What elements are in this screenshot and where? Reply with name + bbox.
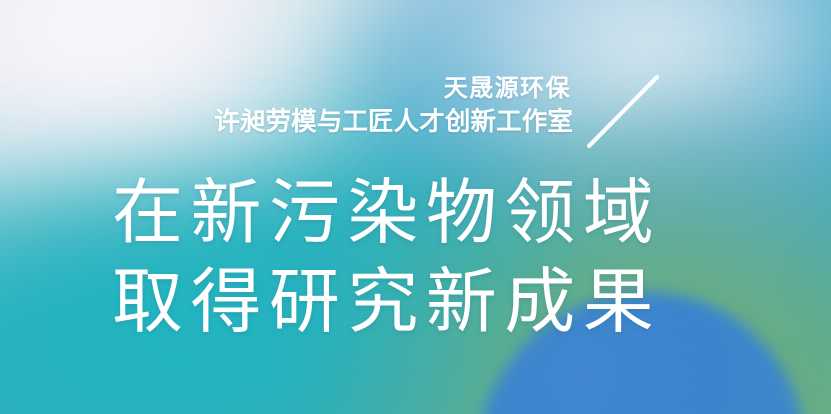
eyebrow-text-block: 天晟源环保 许昶劳模与工匠人才创新工作室 [0, 74, 573, 138]
studio-name: 许昶劳模与工匠人才创新工作室 [0, 107, 573, 138]
headline-line-2: 取得研究新成果 [112, 267, 661, 338]
headline-line-1: 在新污染物领域 [112, 178, 661, 249]
headline-block: 在新污染物领域 取得研究新成果 [112, 178, 661, 338]
banner-content: 天晟源环保 许昶劳模与工匠人才创新工作室 在新污染物领域 取得研究新成果 [0, 0, 831, 414]
diagonal-slash-icon [586, 72, 662, 150]
promo-banner: 天晟源环保 许昶劳模与工匠人才创新工作室 在新污染物领域 取得研究新成果 [0, 0, 831, 414]
organization-name: 天晟源环保 [0, 74, 573, 103]
